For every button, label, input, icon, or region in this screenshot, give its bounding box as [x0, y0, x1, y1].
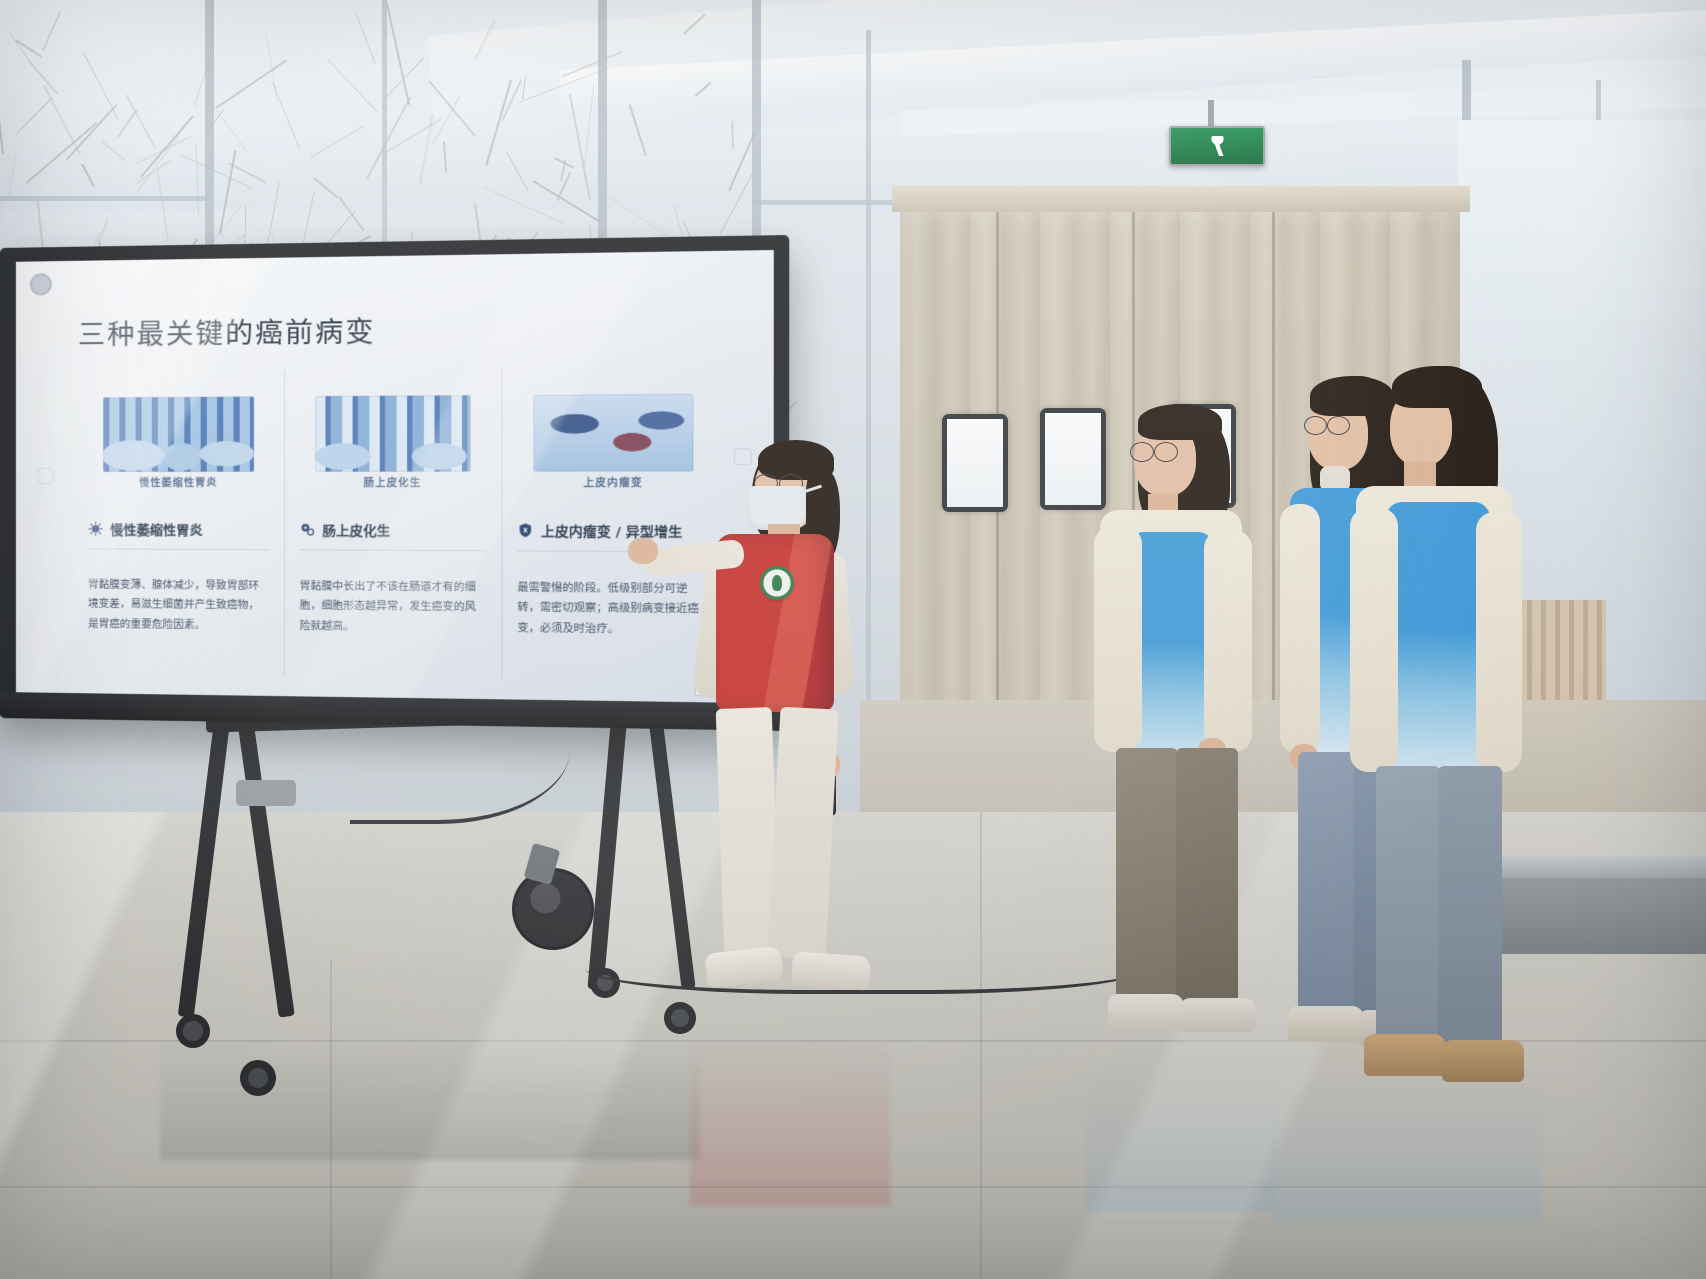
audience-member: [1086, 402, 1276, 1062]
tree-branch: [366, 96, 411, 179]
card-header: 肠上皮化生: [300, 520, 487, 551]
stand-tray: [236, 780, 296, 806]
volunteer-emblem: [760, 566, 794, 600]
audience-reflection: [1086, 1062, 1276, 1212]
curtain-rail: [892, 186, 1470, 212]
presenter-reflection: [690, 1036, 890, 1206]
glasses-lens: [1304, 416, 1327, 435]
neck: [1404, 462, 1436, 488]
tree-branch: [569, 94, 591, 201]
card-body: 胃黏膜中长出了不该在肠道才有的细胞，细胞形态越异常，发生癌变的风险就越高。: [300, 577, 487, 638]
tree-branch: [695, 81, 712, 96]
screen-anchor-icon[interactable]: [38, 468, 54, 484]
shoe-left: [1108, 994, 1184, 1028]
tree-branch: [356, 13, 377, 64]
illustration-caption: 上皮内瘤变: [517, 474, 710, 490]
tree-branch: [517, 68, 609, 104]
photo-scene: 三种最关键的癌前病变 慢性萎缩性胃炎: [0, 0, 1706, 1279]
audience-reflection: [1272, 1072, 1542, 1222]
card-title: 慢性萎缩性胃炎: [110, 519, 203, 539]
audience-member: [1346, 362, 1536, 1102]
window-mullion: [598, 0, 607, 250]
virus-icon: [88, 521, 103, 536]
tree-branch: [196, 145, 200, 216]
leg-left: [1376, 766, 1440, 1044]
leg-right: [767, 707, 838, 960]
curtain-viewport: [942, 414, 1008, 512]
tree-branch: [132, 129, 183, 199]
volunteer-vest: [1386, 502, 1490, 780]
tree-branch: [584, 86, 595, 167]
shoe-left: [704, 946, 783, 988]
tree-branch: [125, 95, 156, 150]
leg-right: [1438, 766, 1502, 1044]
histology-illustration: [315, 395, 470, 472]
exit-sign-stem: [1208, 100, 1214, 128]
tree-branch: [43, 85, 81, 156]
hair-front: [1392, 366, 1482, 408]
tree-branch: [140, 116, 194, 178]
boot-left: [1364, 1034, 1446, 1076]
tree-branch: [474, 19, 496, 61]
tree-branch: [17, 97, 54, 134]
running-man-exit-icon: [1169, 126, 1265, 166]
shield-alert-icon: [517, 522, 533, 538]
window-transom: [752, 200, 912, 205]
cells-icon: [300, 522, 316, 537]
tree-branch: [81, 164, 94, 187]
tree-branch: [629, 104, 647, 156]
shoe-right: [791, 951, 871, 990]
card-title: 肠上皮化生: [322, 520, 390, 540]
card-header: 慢性萎缩性胃炎: [88, 519, 269, 550]
leg-left: [1116, 748, 1178, 1002]
tree-branch: [339, 197, 365, 232]
tree-branch: [0, 116, 4, 154]
sleeve-left: [1094, 526, 1142, 752]
sleeve-left: [1350, 508, 1398, 772]
tree-branch: [310, 125, 365, 159]
precancerous-lesion-cards: 慢性萎缩性胃炎: [74, 366, 725, 681]
tree-branch: [443, 141, 447, 173]
card-title: 上皮内瘤变 / 异型增生: [541, 520, 682, 540]
tree-branch: [65, 104, 118, 161]
presentation-slide: 三种最关键的癌前病变 慢性萎缩性胃炎: [16, 250, 774, 703]
tree-branch: [731, 121, 734, 149]
tree-branch: [312, 177, 338, 199]
histology-illustration: [103, 396, 254, 471]
tree-branch: [522, 76, 526, 99]
interactive-whiteboard[interactable]: 三种最关键的癌前病变 慢性萎缩性胃炎: [0, 235, 789, 731]
glasses-lens: [1154, 442, 1178, 462]
slide-watermark-logo: [30, 273, 52, 295]
tree-branch: [383, 118, 442, 154]
slide-title: 三种最关键的癌前病变: [78, 310, 376, 353]
tree-branch: [82, 52, 119, 121]
tree-branch: [326, 58, 378, 114]
cable-reel: [512, 868, 594, 950]
card-body: 胃黏膜变薄、腺体减少，导致胃部环境变差，易滋生细菌并产生致癌物，是胃癌的重要危险…: [88, 576, 269, 637]
illustration-caption: 慢性萎缩性胃炎: [88, 474, 269, 489]
sleeve-right: [1476, 512, 1522, 772]
card-body: 最需警惕的阶段。低级别部分可逆转，需密切观察；高级别病变接近癌变，必须及时治疗。: [517, 578, 710, 640]
pointing-hand: [628, 538, 658, 564]
histology-illustration: [533, 394, 693, 472]
lesion-card: 肠上皮化生 肠上皮化生 胃黏膜中长出了不该在肠道才有的: [285, 368, 502, 679]
tree-branch: [156, 171, 168, 242]
hair-front: [1138, 404, 1222, 440]
lesion-card: 慢性萎缩性胃炎: [74, 370, 285, 676]
tree-branch: [101, 141, 126, 162]
whiteboard-screen[interactable]: 三种最关键的癌前病变 慢性萎缩性胃炎: [16, 250, 774, 703]
shoe-right: [1180, 998, 1256, 1032]
tree-branch: [385, 2, 410, 105]
tree-branch: [683, 14, 705, 35]
tree-branch: [8, 154, 17, 197]
illustration-caption: 肠上皮化生: [300, 474, 487, 490]
presenter: [690, 436, 890, 1036]
stand-reflection: [160, 1040, 700, 1160]
tree-branch: [42, 11, 62, 52]
leg-right: [1176, 748, 1238, 1002]
window-transom: [0, 196, 210, 201]
sleeve-right: [1204, 530, 1252, 752]
sleeve-left: [1280, 504, 1320, 754]
exit-runner-glyph: [1210, 136, 1225, 156]
tree-branch: [506, 150, 529, 192]
glasses-lens: [1130, 442, 1154, 462]
tree-branch: [117, 110, 138, 138]
